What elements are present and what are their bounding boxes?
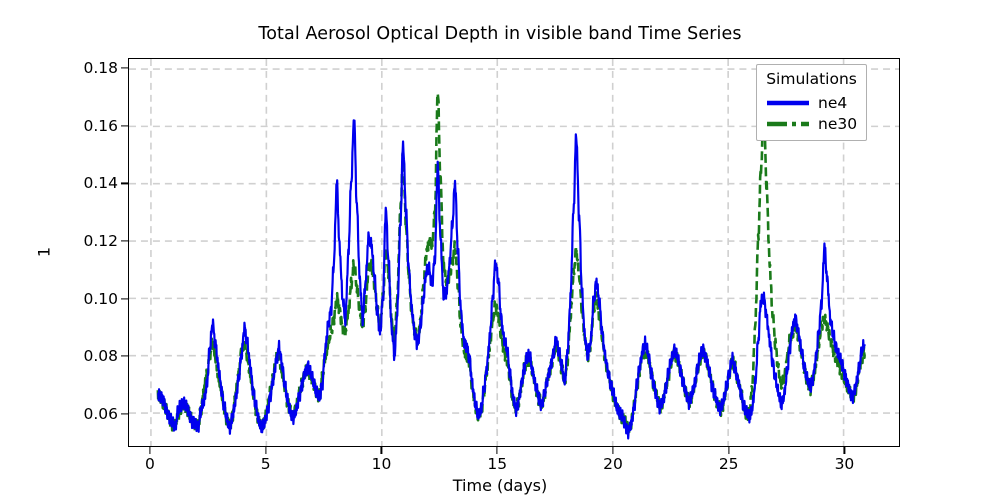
y-tick-mark: [121, 240, 128, 241]
y-tick-label: 0.14: [83, 174, 118, 192]
y-tick-label: 0.06: [83, 405, 118, 423]
x-tick-label: 5: [261, 455, 271, 473]
chart-figure: Total Aerosol Optical Depth in visible b…: [0, 0, 1000, 500]
y-axis-tick-labels: 0.060.080.100.120.140.160.18: [0, 0, 118, 500]
y-tick-label: 0.08: [83, 347, 118, 365]
y-axis-label: 1: [35, 247, 54, 257]
x-tick-mark: [265, 447, 266, 454]
x-tick-mark: [844, 447, 845, 454]
legend-entry-ne4[interactable]: ne4: [766, 92, 857, 113]
y-tick-label: 0.18: [83, 59, 118, 77]
y-tick-mark: [121, 183, 128, 184]
x-tick-mark: [612, 447, 613, 454]
x-tick-label: 20: [603, 455, 623, 473]
legend-swatch-ne4-icon: [766, 95, 810, 111]
legend-title: Simulations: [766, 70, 857, 88]
legend-label-ne4: ne4: [818, 94, 847, 112]
y-tick-mark: [121, 298, 128, 299]
x-axis-label: Time (days): [0, 476, 1000, 495]
x-tick-label: 15: [487, 455, 507, 473]
y-tick-mark: [121, 413, 128, 414]
chart-title: Total Aerosol Optical Depth in visible b…: [0, 24, 1000, 44]
legend-label-ne30: ne30: [818, 115, 857, 133]
legend[interactable]: Simulations ne4ne30: [756, 64, 867, 141]
legend-swatch-ne30-icon: [766, 116, 810, 132]
y-tick-label: 0.16: [83, 117, 118, 135]
x-tick-label: 25: [719, 455, 739, 473]
x-tick-mark: [497, 447, 498, 454]
x-tick-mark: [728, 447, 729, 454]
y-tick-label: 0.10: [83, 290, 118, 308]
x-tick-mark: [381, 447, 382, 454]
legend-entries: ne4ne30: [766, 92, 857, 134]
y-tick-mark: [121, 356, 128, 357]
x-tick-label: 0: [145, 455, 155, 473]
x-tick-label: 30: [835, 455, 855, 473]
y-tick-mark: [121, 125, 128, 126]
x-tick-label: 10: [372, 455, 392, 473]
series-ne4: [158, 120, 865, 438]
y-tick-label: 0.12: [83, 232, 118, 250]
legend-entry-ne30[interactable]: ne30: [766, 113, 857, 134]
y-tick-mark: [121, 67, 128, 68]
x-tick-mark: [149, 447, 150, 454]
